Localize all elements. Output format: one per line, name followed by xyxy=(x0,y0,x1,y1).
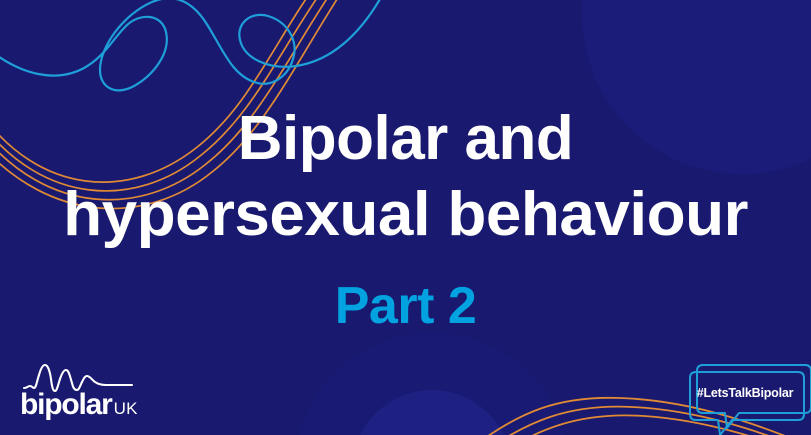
presentation-slide: Bipolar and hypersexual behaviour Part 2… xyxy=(0,0,811,435)
slide-title-line-2: hypersexual behaviour xyxy=(0,184,811,246)
hashtag-badge: #LetsTalkBipolar xyxy=(686,362,811,435)
cyan-squiggle-line xyxy=(0,0,384,90)
logo-wordmark: bipolarUK xyxy=(20,390,138,420)
slide-title-line-1: Bipolar and xyxy=(0,108,811,170)
dark-circle-bottom-inner xyxy=(352,390,512,435)
logo-name-main: bipolar xyxy=(20,388,112,421)
logo-name-suffix: UK xyxy=(114,399,138,418)
hashtag-label: #LetsTalkBipolar xyxy=(686,386,804,400)
bipolar-uk-logo: bipolarUK xyxy=(20,364,140,422)
headline-block: Bipolar and hypersexual behaviour Part 2 xyxy=(0,108,811,332)
slide-subtitle-part: Part 2 xyxy=(0,280,811,332)
dark-circle-bottom-outer xyxy=(295,333,569,435)
